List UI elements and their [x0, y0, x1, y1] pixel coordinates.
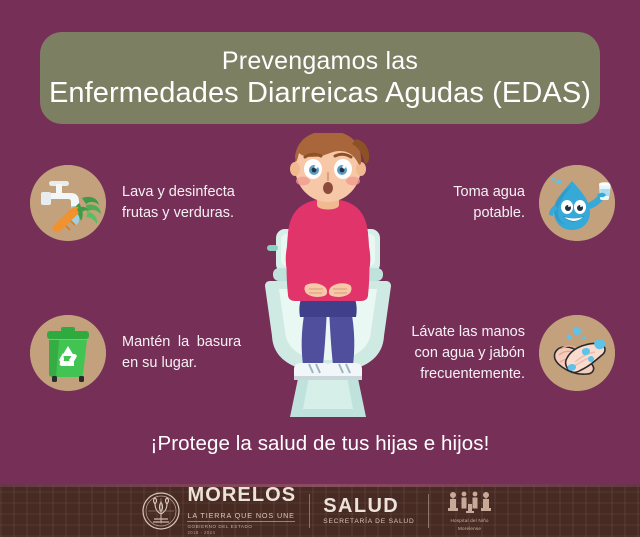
- water-drop-character-icon: [539, 165, 615, 241]
- hospital-logo: Hospital del Niño Morelense: [442, 490, 498, 532]
- morelos-logo: MORELOS LA TIERRA QUE NOS UNE GOBIERNO D…: [142, 485, 296, 537]
- tip-line: con agua y jabón: [411, 343, 525, 364]
- washing-hands-icon: [539, 315, 615, 391]
- morelos-title: MORELOS: [187, 485, 296, 505]
- tagline: ¡Protege la salud de tus hijas e hijos!: [0, 432, 640, 456]
- tip-line: en su lugar.: [122, 353, 241, 374]
- tip-line: frutas y verduras.: [122, 203, 235, 224]
- tip-keep-trash-in-place-text: Mantén la basura en su lugar.: [122, 332, 241, 374]
- tip-wash-vegetables: Lava y desinfecta frutas y verduras.: [30, 165, 235, 241]
- morelos-subtitle: LA TIERRA QUE NOS UNE: [187, 511, 294, 522]
- faucet-vegetables-icon: [30, 165, 106, 241]
- boy-sitting-on-toilet-illustration: [243, 133, 413, 425]
- hospital-name-line-2: Morelense: [442, 526, 498, 532]
- title-line-2: Enfermedades Diarreicas Agudas (EDAS): [49, 76, 591, 110]
- tip-drink-potable-water: Toma agua potable.: [453, 165, 615, 241]
- tip-wash-hands-text: Lávate las manos con agua y jabón frecue…: [411, 322, 525, 385]
- morelos-seal-icon: [142, 492, 180, 530]
- morelos-wordmark: MORELOS LA TIERRA QUE NOS UNE GOBIERNO D…: [187, 485, 296, 537]
- tip-line: Lava y desinfecta: [122, 182, 235, 203]
- tip-line: Toma agua: [453, 182, 525, 203]
- salud-logo: SALUD SECRETARÍA DE SALUD: [323, 496, 414, 526]
- hospital-name-line-1: Hospital del Niño: [442, 518, 498, 524]
- logo-group: MORELOS LA TIERRA QUE NOS UNE GOBIERNO D…: [142, 489, 497, 533]
- tip-line: Mantén la basura: [122, 332, 241, 353]
- tip-line: frecuentemente.: [411, 364, 525, 385]
- salud-title: SALUD: [323, 496, 414, 516]
- logo-divider-1: [309, 494, 310, 528]
- tip-wash-vegetables-text: Lava y desinfecta frutas y verduras.: [122, 182, 235, 224]
- tip-wash-hands: Lávate las manos con agua y jabón frecue…: [411, 315, 615, 391]
- salud-subtitle: SECRETARÍA DE SALUD: [323, 517, 414, 526]
- footer-logo-bar: MORELOS LA TIERRA QUE NOS UNE GOBIERNO D…: [0, 484, 640, 537]
- title-line-1: Prevengamos las: [222, 46, 418, 76]
- recycling-bin-icon: [30, 315, 106, 391]
- tip-keep-trash-in-place: Mantén la basura en su lugar.: [30, 315, 241, 391]
- logo-divider-2: [428, 494, 429, 528]
- hospital-figures-icon: [442, 490, 498, 516]
- tip-line: Lávate las manos: [411, 322, 525, 343]
- tip-line: potable.: [453, 203, 525, 224]
- morelos-years: 2018 - 2024: [187, 530, 296, 536]
- tip-drink-potable-water-text: Toma agua potable.: [453, 182, 525, 224]
- edas-prevention-poster: Prevengamos las Enfermedades Diarreicas …: [0, 0, 640, 537]
- title-banner: Prevengamos las Enfermedades Diarreicas …: [40, 32, 600, 124]
